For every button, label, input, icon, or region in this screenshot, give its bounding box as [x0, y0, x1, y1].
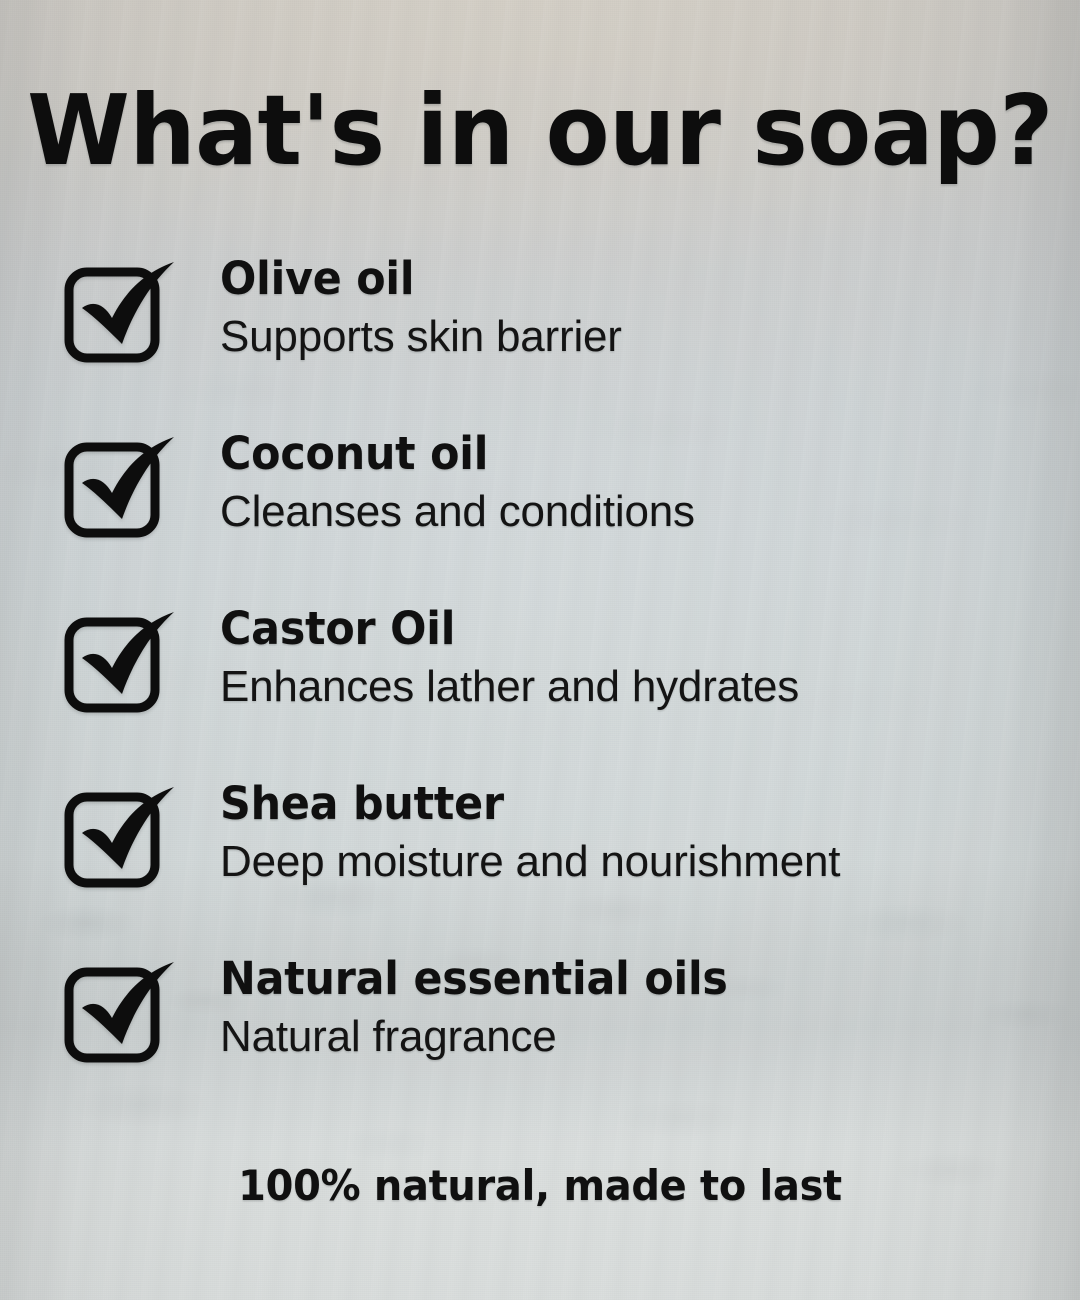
checked-checkbox-icon: [60, 431, 184, 543]
list-item: Olive oil Supports skin barrier: [0, 252, 1080, 427]
list-item: Shea butter Deep moisture and nourishmen…: [0, 777, 1080, 952]
ingredient-name: Natural essential oils: [220, 952, 1018, 1006]
soap-ingredients-poster: What's in our soap? Olive oil Supports s…: [0, 0, 1080, 1300]
ingredient-description: Cleanses and conditions: [220, 486, 1060, 538]
list-item: Coconut oil Cleanses and conditions: [0, 427, 1080, 602]
footer-tagline: 100% natural, made to last: [27, 1160, 1053, 1212]
ingredient-description: Supports skin barrier: [220, 311, 1060, 363]
ingredient-name: Shea butter: [220, 777, 1018, 831]
ingredient-name: Olive oil: [220, 252, 1018, 306]
ingredient-description: Deep moisture and nourishment: [220, 836, 1060, 888]
checked-checkbox-icon: [60, 606, 184, 718]
list-item: Natural essential oils Natural fragrance: [0, 952, 1080, 1127]
page-title: What's in our soap?: [22, 82, 1059, 179]
list-item-text: Castor Oil Enhances lather and hydrates: [220, 602, 1060, 713]
list-item-text: Olive oil Supports skin barrier: [220, 252, 1060, 363]
checked-checkbox-icon: [60, 781, 184, 893]
ingredient-name: Coconut oil: [220, 427, 1018, 481]
list-item-text: Coconut oil Cleanses and conditions: [220, 427, 1060, 538]
checked-checkbox-icon: [60, 956, 184, 1068]
list-item-text: Shea butter Deep moisture and nourishmen…: [220, 777, 1060, 888]
ingredient-name: Castor Oil: [220, 602, 1018, 656]
poster-content: What's in our soap? Olive oil Supports s…: [0, 0, 1080, 1300]
ingredient-list: Olive oil Supports skin barrier Coconut …: [0, 252, 1080, 1127]
list-item: Castor Oil Enhances lather and hydrates: [0, 602, 1080, 777]
checked-checkbox-icon: [60, 256, 184, 368]
list-item-text: Natural essential oils Natural fragrance: [220, 952, 1060, 1063]
ingredient-description: Enhances lather and hydrates: [220, 661, 1060, 713]
ingredient-description: Natural fragrance: [220, 1011, 1060, 1063]
